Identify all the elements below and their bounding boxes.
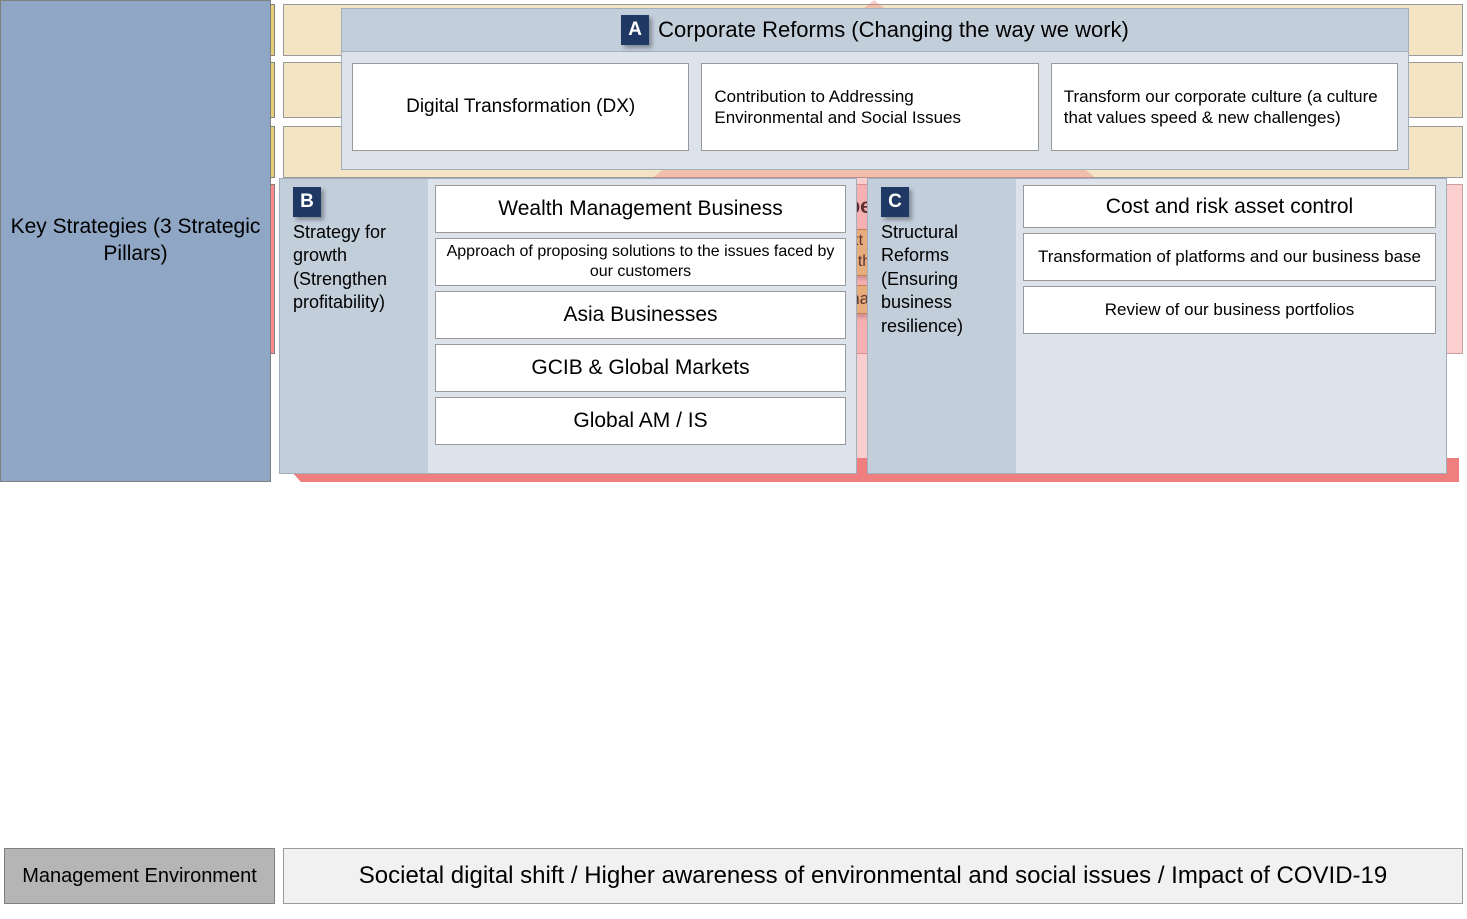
pillar-a-corporate-reforms: A Corporate Reforms (Changing the way we…: [341, 8, 1409, 170]
row-management-environment: Management Environment Societal digital …: [4, 848, 1463, 904]
row-environment-label: Management Environment: [4, 848, 275, 904]
pillar-b-item: Wealth Management Business: [435, 185, 846, 233]
pillar-b-header: B Strategy for growth (Strengthen profit…: [280, 179, 428, 473]
pillar-b-items: Wealth Management Business Approach of p…: [428, 179, 856, 473]
pillar-b-item: Approach of proposing solutions to the i…: [435, 238, 846, 286]
pillar-b-item: GCIB & Global Markets: [435, 344, 846, 392]
pillar-c-items: Cost and risk asset control Transformati…: [1016, 179, 1446, 473]
row-environment-content: Societal digital shift / Higher awarenes…: [283, 848, 1463, 904]
pillar-b-title: Strategy for growth (Strengthen profitab…: [293, 222, 387, 312]
pillar-c-structural-reforms: C Structural Reforms (Ensuring business …: [867, 178, 1447, 474]
pillar-c-title: Structural Reforms (Ensuring business re…: [881, 222, 963, 336]
pillar-a-title: Corporate Reforms (Changing the way we w…: [658, 17, 1129, 43]
pillar-a-item: Contribution to Addressing Environmental…: [701, 63, 1038, 151]
pillar-c-item: Cost and risk asset control: [1023, 185, 1436, 228]
pillar-c-item: Review of our business portfolios: [1023, 286, 1436, 334]
pillar-b-item: Global AM / IS: [435, 397, 846, 445]
row-key-strategies: Key Strategies (3 Strategic Pillars) A C…: [0, 0, 1459, 482]
row-key-strategies-label: Key Strategies (3 Strategic Pillars): [0, 0, 271, 482]
pillar-c-item: Transformation of platforms and our busi…: [1023, 233, 1436, 281]
pillar-b-badge: B: [293, 187, 321, 217]
pillar-c-badge: C: [881, 187, 909, 217]
key-strategies-body: A Corporate Reforms (Changing the way we…: [279, 0, 1459, 482]
pillar-c-header: C Structural Reforms (Ensuring business …: [868, 179, 1016, 473]
pillar-b-strategy-for-growth: B Strategy for growth (Strengthen profit…: [279, 178, 857, 474]
pillar-a-header: A Corporate Reforms (Changing the way we…: [342, 9, 1408, 52]
strategy-diagram: Purpose Committed to empowering a bright…: [0, 0, 1467, 919]
pillar-a-item: Digital Transformation (DX): [352, 63, 689, 151]
pillar-a-badge: A: [621, 15, 649, 45]
pillar-b-item: Asia Businesses: [435, 291, 846, 339]
pillar-a-item: Transform our corporate culture (a cultu…: [1051, 63, 1398, 151]
pillar-a-items: Digital Transformation (DX) Contribution…: [342, 52, 1408, 162]
